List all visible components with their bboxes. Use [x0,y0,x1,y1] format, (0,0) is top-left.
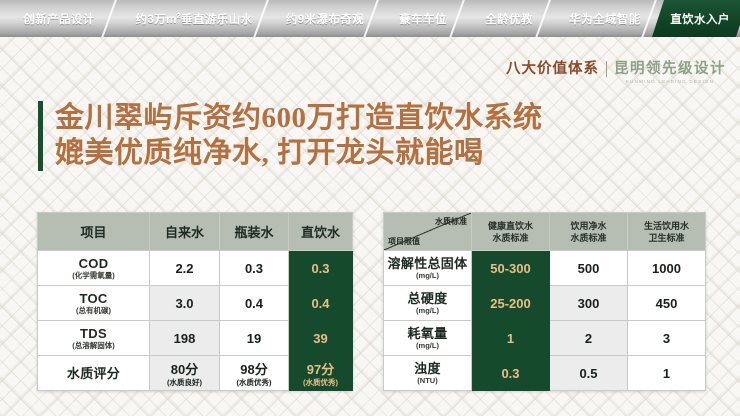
row-label-sub: (mg/L) [384,271,471,281]
table-row: TDS (总溶解固体) 198 19 39 [38,321,353,356]
table-row: 总硬度 (mg/L) 25-200 300 450 [384,286,706,321]
table-left-head: 项目 自来水 瓶装水 直饮水 [38,213,353,251]
row-label-main: COD [38,256,149,271]
cell-turbidity-purified: 0.5 [550,356,628,391]
cell-turbidity-domestic: 1 [628,356,706,391]
corner-label-bottom: 项目限值 [388,237,420,247]
row-label-main: TOC [38,291,149,306]
table-row: 水质评分 80分 (水质良好) 98分 (水质优秀) 97分 (水质优秀) [38,356,353,391]
table-header-row: 项目 自来水 瓶装水 直饮水 [38,213,353,251]
col-header-line-2: 卫生标准 [628,232,705,244]
table-right-body: 溶解性总固体 (mg/L) 50-300 500 1000 总硬度 (mg/L)… [384,251,706,391]
row-label-main: 总硬度 [384,291,471,306]
cell-dissolved-solids-purified: 500 [550,251,628,286]
cell-score-direct: 97分 (水质优秀) [289,356,353,391]
cell-turbidity-healthy: 0.3 [472,356,550,391]
row-label-tds-dissolved-solids: 溶解性总固体 (mg/L) [384,251,472,286]
tab-label: 创新产品设计 [23,11,94,27]
cell-score-tap: 80分 (水质良好) [150,356,220,391]
tab-innovative-product-design[interactable]: 创新产品设计 [0,0,118,37]
tab-vertical-playground-landscape[interactable]: 约3万m2垂直游乐山水 [118,0,270,37]
brand-divider [606,61,607,77]
row-label-sub: (化学需氧量) [38,271,149,281]
col-header-direct-drinking-water: 直饮水 [289,213,353,251]
row-label-sub: (NTU) [384,376,471,386]
table-header-row: 水质标准 项目限值 健康直饮水 水质标准 饮用净水 水质标准 生活饮用水 卫生标… [384,213,706,251]
col-header-line-1: 健康直饮水 [472,220,549,232]
col-header-line-2: 水质标准 [472,232,549,244]
tab-huawei-smart-home[interactable]: 华为全域智能 [552,0,658,37]
cell-cod-bottled: 0.3 [220,251,289,286]
row-label-tds: TDS (总溶解固体) [38,321,150,356]
cell-value: 98分 [240,362,267,377]
table-row: 溶解性总固体 (mg/L) 50-300 500 1000 [384,251,706,286]
row-label-main: TDS [38,326,149,341]
cell-hardness-domestic: 450 [628,286,706,321]
corner-label-top: 水质标准 [435,217,467,227]
cell-toc-tap: 3.0 [150,286,220,321]
corner-header-split-cell: 水质标准 项目限值 [384,213,472,251]
cell-hardness-purified: 300 [550,286,628,321]
row-label-oxygen-consumption: 耗氧量 (mg/L) [384,321,472,356]
headline-text: 金川翠屿斥资约600万打造直饮水系统 媲美优质纯净水, 打开龙头就能喝 [55,101,543,171]
slide-root: 创新产品设计 约3万m2垂直游乐山水 约9米瀑布奇观 豪车车位 全龄优教 华为全… [0,0,740,416]
cell-tds-bottled: 19 [220,321,289,356]
headline-accent-bar [38,101,43,171]
top-tab-bar: 创新产品设计 约3万m2垂直游乐山水 约9米瀑布奇观 豪车车位 全龄优教 华为全… [0,0,740,37]
tab-label-main: 约3万m [136,14,177,26]
table-row: 耗氧量 (mg/L) 1 2 3 [384,321,706,356]
row-label-cod: COD (化学需氧量) [38,251,150,286]
cell-hardness-healthy: 25-200 [472,286,550,321]
brand-sub-title: 昆明领先级设计 [614,60,726,78]
tab-direct-drinking-water[interactable]: 直饮水入户 [652,0,740,37]
row-label-water-score: 水质评分 [38,356,150,391]
cell-tds-tap: 198 [150,321,220,356]
tab-label: 直饮水入户 [670,11,730,27]
cell-dissolved-solids-healthy: 50-300 [472,251,550,286]
col-header-tap-water: 自来水 [150,213,220,251]
cell-value-sub: (水质优秀) [289,378,352,388]
tab-waterfall-spectacle[interactable]: 约9米瀑布奇观 [270,0,380,37]
brand-sub-english: KUNMING LEADING DESIGN [626,79,714,84]
tab-label-tail: 垂直游乐山水 [181,14,252,26]
cell-oxygen-domestic: 3 [628,321,706,356]
tab-all-age-education[interactable]: 全龄优教 [466,0,552,37]
row-label-sub: (总有机碳) [38,306,149,316]
headline-line-1: 金川翠屿斥资约600万打造直饮水系统 [55,101,543,136]
row-label-sub: (mg/L) [384,341,471,351]
cell-oxygen-healthy: 1 [472,321,550,356]
cell-value-sub: (水质优秀) [220,378,288,388]
headline-block: 金川翠屿斥资约600万打造直饮水系统 媲美优质纯净水, 打开龙头就能喝 [38,101,543,171]
tab-label: 全龄优教 [485,11,533,27]
cell-toc-bottled: 0.4 [220,286,289,321]
cell-value: 80分 [171,362,198,377]
cell-cod-direct: 0.3 [289,251,353,286]
brand-lockup: 八大价值体系 昆明领先级设计 KUNMING LEADING DESIGN [506,60,726,90]
col-header-bottled-water: 瓶装水 [220,213,289,251]
row-label-turbidity: 浊度 (NTU) [384,356,472,391]
row-label-sub: (mg/L) [384,306,471,316]
tab-label: 华为全域智能 [569,11,640,27]
col-header-item: 项目 [38,213,150,251]
table-left-body: COD (化学需氧量) 2.2 0.3 0.3 TOC (总有机碳) 3.0 0… [38,251,353,391]
cell-value: 97分 [307,362,334,377]
cell-oxygen-purified: 2 [550,321,628,356]
table-row: COD (化学需氧量) 2.2 0.3 0.3 [38,251,353,286]
cell-toc-direct: 0.4 [289,286,353,321]
cell-value-sub: (水质良好) [150,378,219,388]
col-header-line-1: 生活饮用水 [628,220,705,232]
col-header-healthy-direct-drinking: 健康直饮水 水质标准 [472,213,550,251]
brand-main-title: 八大价值体系 [506,60,599,78]
row-label-total-hardness: 总硬度 (mg/L) [384,286,472,321]
row-label-sub: (总溶解固体) [38,341,149,351]
tab-label: 约3万m2垂直游乐山水 [136,11,253,27]
tab-luxury-car-parking[interactable]: 豪车车位 [380,0,466,37]
cell-score-bottled: 98分 (水质优秀) [220,356,289,391]
brand-sub-wrap: 昆明领先级设计 KUNMING LEADING DESIGN [614,60,726,84]
cell-tds-direct: 39 [289,321,353,356]
tab-label: 豪车车位 [399,11,447,27]
table-row: TOC (总有机碳) 3.0 0.4 0.4 [38,286,353,321]
row-label-main: 浊度 [384,361,471,376]
water-comparison-table: 项目 自来水 瓶装水 直饮水 COD (化学需氧量) 2.2 0.3 0.3 T… [37,212,353,391]
row-label-main: 水质评分 [38,366,149,381]
tab-label: 约9米瀑布奇观 [286,11,364,27]
table-row: 浊度 (NTU) 0.3 0.5 1 [384,356,706,391]
row-label-main: 耗氧量 [384,326,471,341]
col-header-line-2: 水质标准 [550,232,627,244]
row-label-toc: TOC (总有机碳) [38,286,150,321]
cell-cod-tap: 2.2 [150,251,220,286]
table-right-head: 水质标准 项目限值 健康直饮水 水质标准 饮用净水 水质标准 生活饮用水 卫生标… [384,213,706,251]
row-label-main: 溶解性总固体 [384,256,471,271]
col-header-purified-drinking: 饮用净水 水质标准 [550,213,628,251]
water-standards-table: 水质标准 项目限值 健康直饮水 水质标准 饮用净水 水质标准 生活饮用水 卫生标… [383,212,706,391]
col-header-line-1: 饮用净水 [550,220,627,232]
headline-line-2: 媲美优质纯净水, 打开龙头就能喝 [55,136,543,171]
col-header-domestic-drinking: 生活饮用水 卫生标准 [628,213,706,251]
cell-dissolved-solids-domestic: 1000 [628,251,706,286]
